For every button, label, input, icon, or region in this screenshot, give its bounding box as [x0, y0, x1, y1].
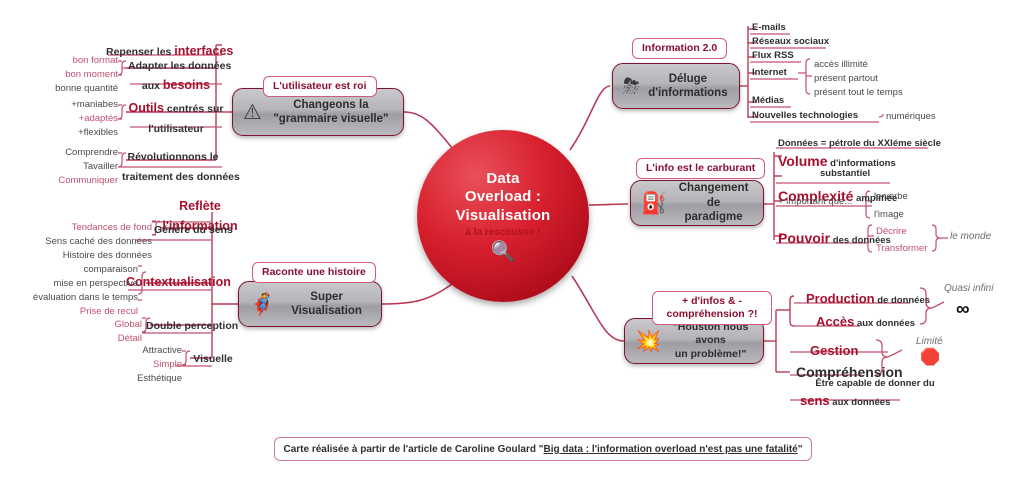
- center-title-line2: Overload :: [456, 188, 551, 206]
- explosion-mushroom-cloud-icon: 💥: [635, 331, 661, 352]
- magnifying-glass-icon: 🔍: [491, 242, 516, 262]
- supervis-g5-item-1: Simple: [104, 359, 182, 371]
- center-subtitle: à la rescousse !: [465, 227, 540, 238]
- infinity-icon: ∞: [956, 298, 969, 321]
- deluge-item-3-sub-2: présent tout le temps: [814, 87, 903, 99]
- fuel-pump-icon: ⛽: [641, 193, 667, 214]
- caption-article-link[interactable]: Big data : l'information overload n'est …: [544, 444, 798, 455]
- deluge-item-5-sub-0: numériques: [886, 111, 936, 123]
- houston-top-item-1-bold: Accès: [816, 314, 854, 329]
- houston-footer-bold: sens: [800, 393, 830, 408]
- stop-hand-icon: 🛑: [920, 350, 940, 366]
- houston-top-item-0-bold: Production: [806, 291, 875, 306]
- deluge-item-4: Médias: [752, 95, 784, 107]
- node-grammaire-label-2: "grammaire visuelle": [273, 113, 388, 125]
- houston-footer-line2: aux données: [830, 397, 891, 408]
- deluge-item-2: Flux RSS: [752, 50, 794, 62]
- grammaire-g2-item-2: bonne quantité: [16, 83, 118, 95]
- grammaire-g4-item-2: Communiquer: [16, 175, 118, 187]
- node-paradigme-label-2: paradigme: [684, 211, 742, 223]
- supervis-g2-item-0: Tendances de fond: [40, 222, 152, 234]
- node-houston-label-2: un problème!": [675, 348, 746, 360]
- node-paradigme-label-1: Changement de: [679, 182, 749, 208]
- center-title-line3: Visualisation: [456, 207, 551, 225]
- supervis-g4-item-0: Global: [66, 319, 142, 331]
- grammaire-g4-item-0: Comprendre: [16, 147, 118, 159]
- paradigme-top-note: Données = pétrole du XXIéme siècle: [778, 138, 941, 150]
- deluge-item-3-sub-0: accès illimité: [814, 59, 868, 71]
- houston-bottom-item-0-bold: Gestion: [810, 343, 858, 358]
- grammaire-g3-plain2: l'utilisateur: [148, 123, 204, 135]
- paradigme-item-2-sub-1: l'image: [874, 209, 904, 221]
- mindmap-canvas: Data Overload : Visualisation à la resco…: [0, 0, 1024, 483]
- supervis-g3-item-0: comparaison: [22, 264, 138, 276]
- node-changement-paradigme[interactable]: ⛽ Changement de paradigme: [630, 180, 764, 226]
- callout-info-carburant[interactable]: L'info est le carburant: [636, 158, 765, 179]
- deluge-item-3-sub-1: présent partout: [814, 73, 878, 85]
- grammaire-g2-plain2: aux: [142, 80, 163, 92]
- caption-suffix: ": [798, 444, 803, 455]
- grammaire-g3-item-1: +adaptés: [40, 113, 118, 125]
- supervis-g3-item-1: mise en perspective: [12, 278, 138, 290]
- source-caption[interactable]: Carte réalisée à partir de l'article de …: [274, 437, 812, 461]
- paradigme-aside-le-monde: le monde: [950, 231, 991, 243]
- callout-raconte-une-histoire[interactable]: Raconte une histoire: [252, 262, 376, 283]
- deluge-item-3: Internet: [752, 67, 787, 79]
- grammaire-g3-plain: centrés sur: [164, 103, 224, 115]
- node-supervis-label-1: Super: [310, 291, 343, 303]
- grammaire-g2-bold: besoins: [163, 78, 210, 92]
- houston-footer-line1: Être capable de donner du: [790, 378, 960, 390]
- supervis-g2-item-1: Sens caché des données: [28, 236, 152, 248]
- grammaire-g2-item-1: bon moment: [26, 69, 118, 81]
- deluge-item-5: Nouvelles technologies: [752, 110, 858, 122]
- grammaire-g3-bold: Outils: [129, 101, 164, 115]
- paradigme-item-2-sub-0: le verbe: [874, 191, 908, 203]
- road-works-warning-icon: ⚠: [243, 102, 262, 123]
- supervis-g3-heading: Contextualisation: [126, 275, 230, 290]
- deluge-item-1: Réseaux sociaux: [752, 36, 829, 48]
- node-deluge-informations[interactable]: ⛈ Déluge d'informations: [612, 63, 740, 109]
- supervis-g4-heading: Double perception: [146, 320, 232, 333]
- houston-aside-quasi-infini: Quasi infini: [944, 283, 993, 295]
- houston-top-item-0-plain: de données: [875, 295, 930, 306]
- supervis-g5-item-0: Attractive: [104, 345, 182, 357]
- paradigme-item-3-bold: Pouvoir: [778, 230, 830, 246]
- supervis-g3-item-3: Prise de recul: [30, 306, 138, 318]
- grammaire-g3-item-2: +flexibles: [40, 127, 118, 139]
- paradigme-item-3-sub-1: Transformer: [876, 243, 927, 255]
- grammaire-g4-item-1: Tavailler: [16, 161, 118, 173]
- callout-houston-line2: compréhension ?!: [666, 308, 757, 320]
- callout-plus-infos-moins-comprehension[interactable]: + d'infos & - compréhension ?!: [652, 291, 772, 325]
- supervis-g1-line1: Reflète: [179, 199, 221, 213]
- houston-aside-limite: Limité: [916, 336, 943, 348]
- paradigme-item-0-plain2: substantiel: [820, 168, 870, 180]
- supervis-g3-item-2: évaluation dans le temps: [0, 292, 138, 304]
- superhero-icon: 🦸: [249, 294, 275, 315]
- callout-houston-line1: + d'infos & -: [682, 295, 742, 307]
- central-topic-node[interactable]: Data Overload : Visualisation à la resco…: [417, 130, 589, 302]
- node-super-visualisation[interactable]: 🦸 Super Visualisation: [238, 281, 382, 327]
- node-houston-label-1: "Houston nous avons: [673, 321, 749, 346]
- node-deluge-label-1: Déluge: [669, 73, 707, 85]
- grammaire-g2-plain: Adapter les données: [128, 60, 231, 72]
- supervis-g5-heading: Visuelle: [188, 353, 238, 366]
- node-supervis-label-2: Visualisation: [291, 305, 362, 317]
- center-title-line1: Data: [456, 170, 551, 188]
- grammaire-g2-item-0: bon format: [26, 55, 118, 67]
- caption-prefix: Carte réalisée à partir de l'article de …: [284, 444, 544, 455]
- supervis-g4-item-1: Détail: [66, 333, 142, 345]
- deluge-item-0: E-mails: [752, 22, 786, 34]
- grammaire-g4-plain2: traitement des données: [122, 171, 240, 183]
- storm-clouds-lightning-icon: ⛈: [623, 76, 640, 97]
- node-grammaire-label-1: Changeons la: [293, 99, 368, 111]
- paradigme-item-2-plain: + important que...: [778, 196, 852, 208]
- callout-utilisateur-est-roi[interactable]: L'utilisateur est roi: [263, 76, 377, 97]
- houston-top-item-1-plain: aux données: [854, 318, 915, 329]
- grammaire-g3-item-0: +maniabes: [40, 99, 118, 111]
- supervis-g2-item-2: Histoire des données: [28, 250, 152, 262]
- node-deluge-label-2: d'informations: [648, 87, 727, 99]
- supervis-g2-heading: Génère du sens: [154, 224, 224, 237]
- supervis-g5-item-2: Esthétique: [98, 373, 182, 385]
- callout-information-2-0[interactable]: Information 2.0: [632, 38, 727, 59]
- paradigme-item-0-bold: Volume: [778, 153, 828, 169]
- paradigme-item-3-sub-0: Décrire: [876, 226, 907, 238]
- grammaire-g4-plain: Révolutionnons le: [127, 151, 218, 163]
